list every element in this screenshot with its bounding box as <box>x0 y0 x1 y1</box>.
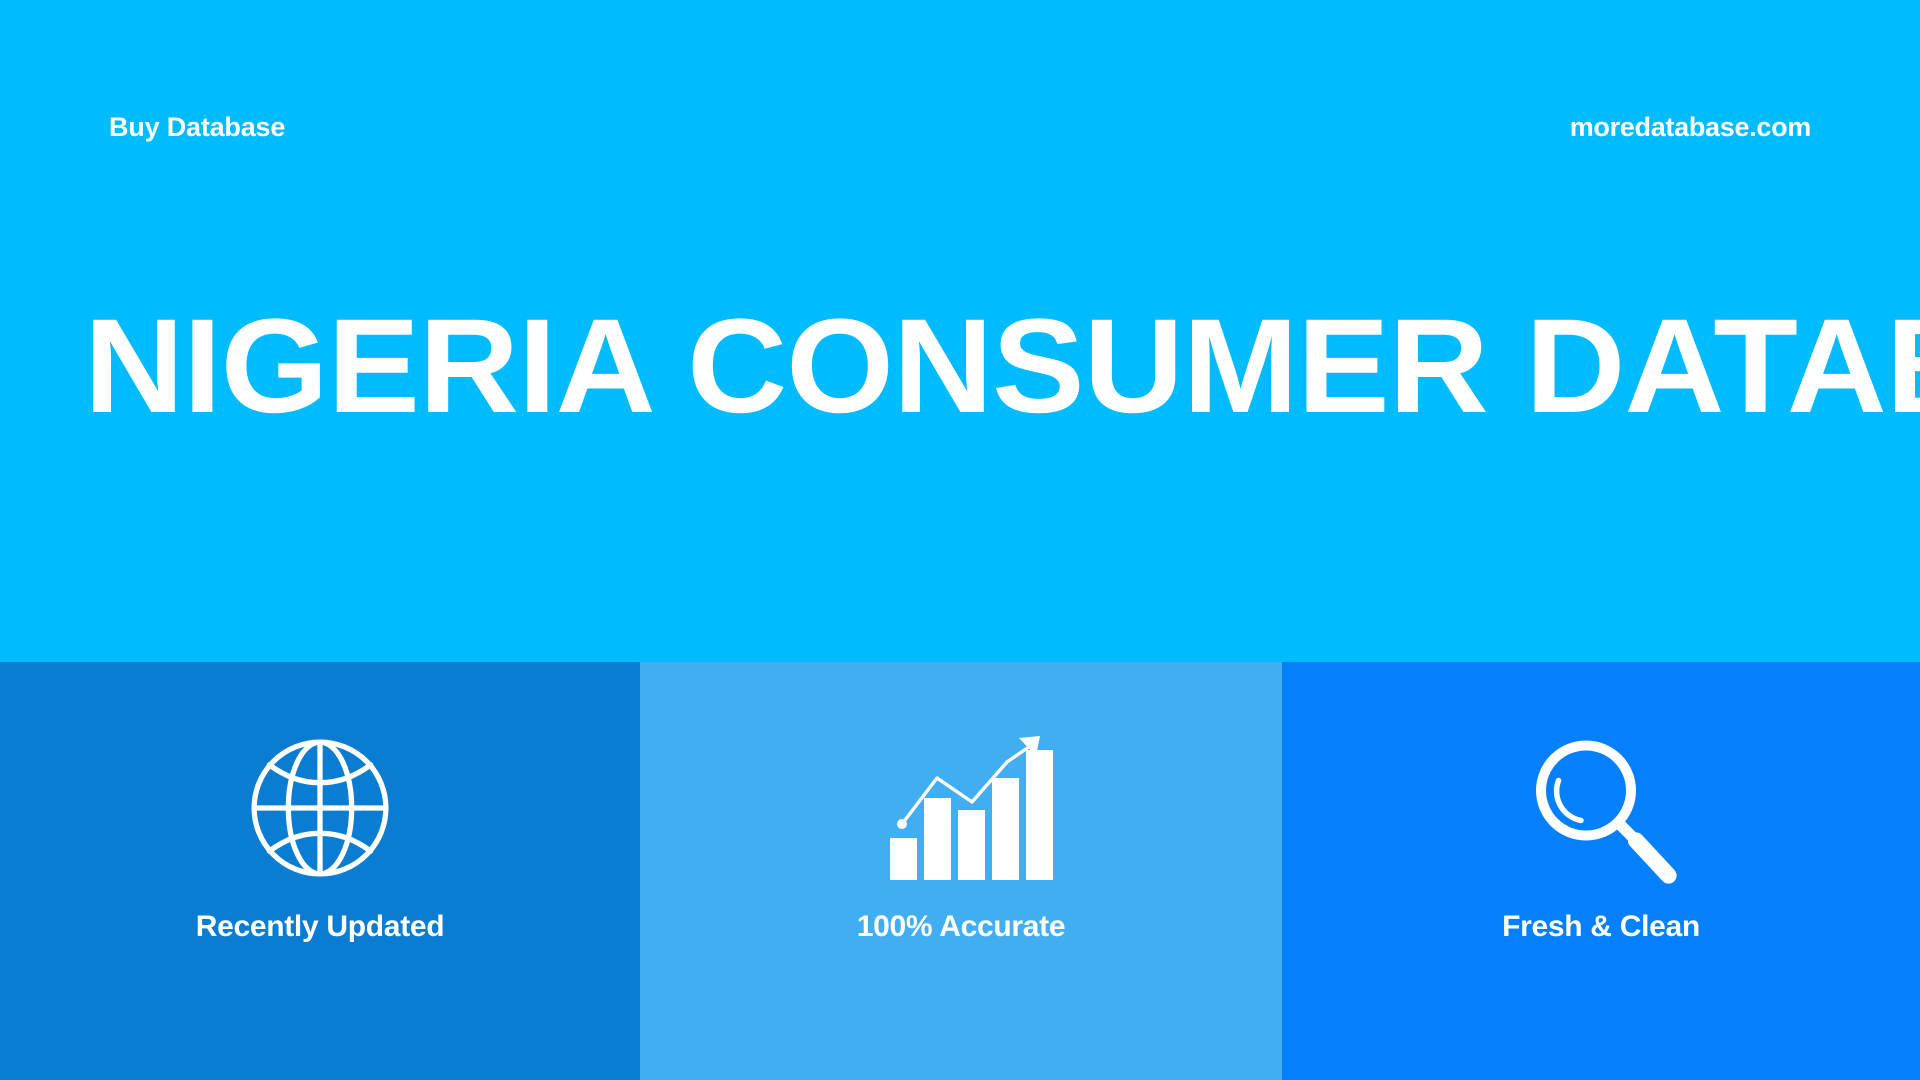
brand-row: Buy Database moredatabase.com <box>0 104 1920 150</box>
hero-banner: Buy Database moredatabase.com NIGERIA CO… <box>0 0 1920 662</box>
feature-card-fresh-clean: Fresh & Clean <box>1282 662 1920 1080</box>
brand-label: Buy Database <box>109 104 285 150</box>
feature-card-accurate: 100% Accurate <box>640 662 1282 1080</box>
feature-label-recently-updated: Recently Updated <box>196 910 445 944</box>
magnifier-icon <box>1511 724 1691 892</box>
feature-label-fresh-clean: Fresh & Clean <box>1502 910 1700 944</box>
page-title: NIGERIA CONSUMER DATABASE <box>84 300 1906 434</box>
globe-icon <box>230 724 410 892</box>
growth-chart-icon <box>871 724 1051 892</box>
feature-card-recently-updated: Recently Updated <box>0 662 640 1080</box>
feature-label-accurate: 100% Accurate <box>857 910 1065 944</box>
poster-canvas: Buy Database moredatabase.com NIGERIA CO… <box>0 0 1920 1080</box>
feature-strip: Recently Updated <box>0 662 1920 1080</box>
site-url-label: moredatabase.com <box>1570 104 1811 150</box>
